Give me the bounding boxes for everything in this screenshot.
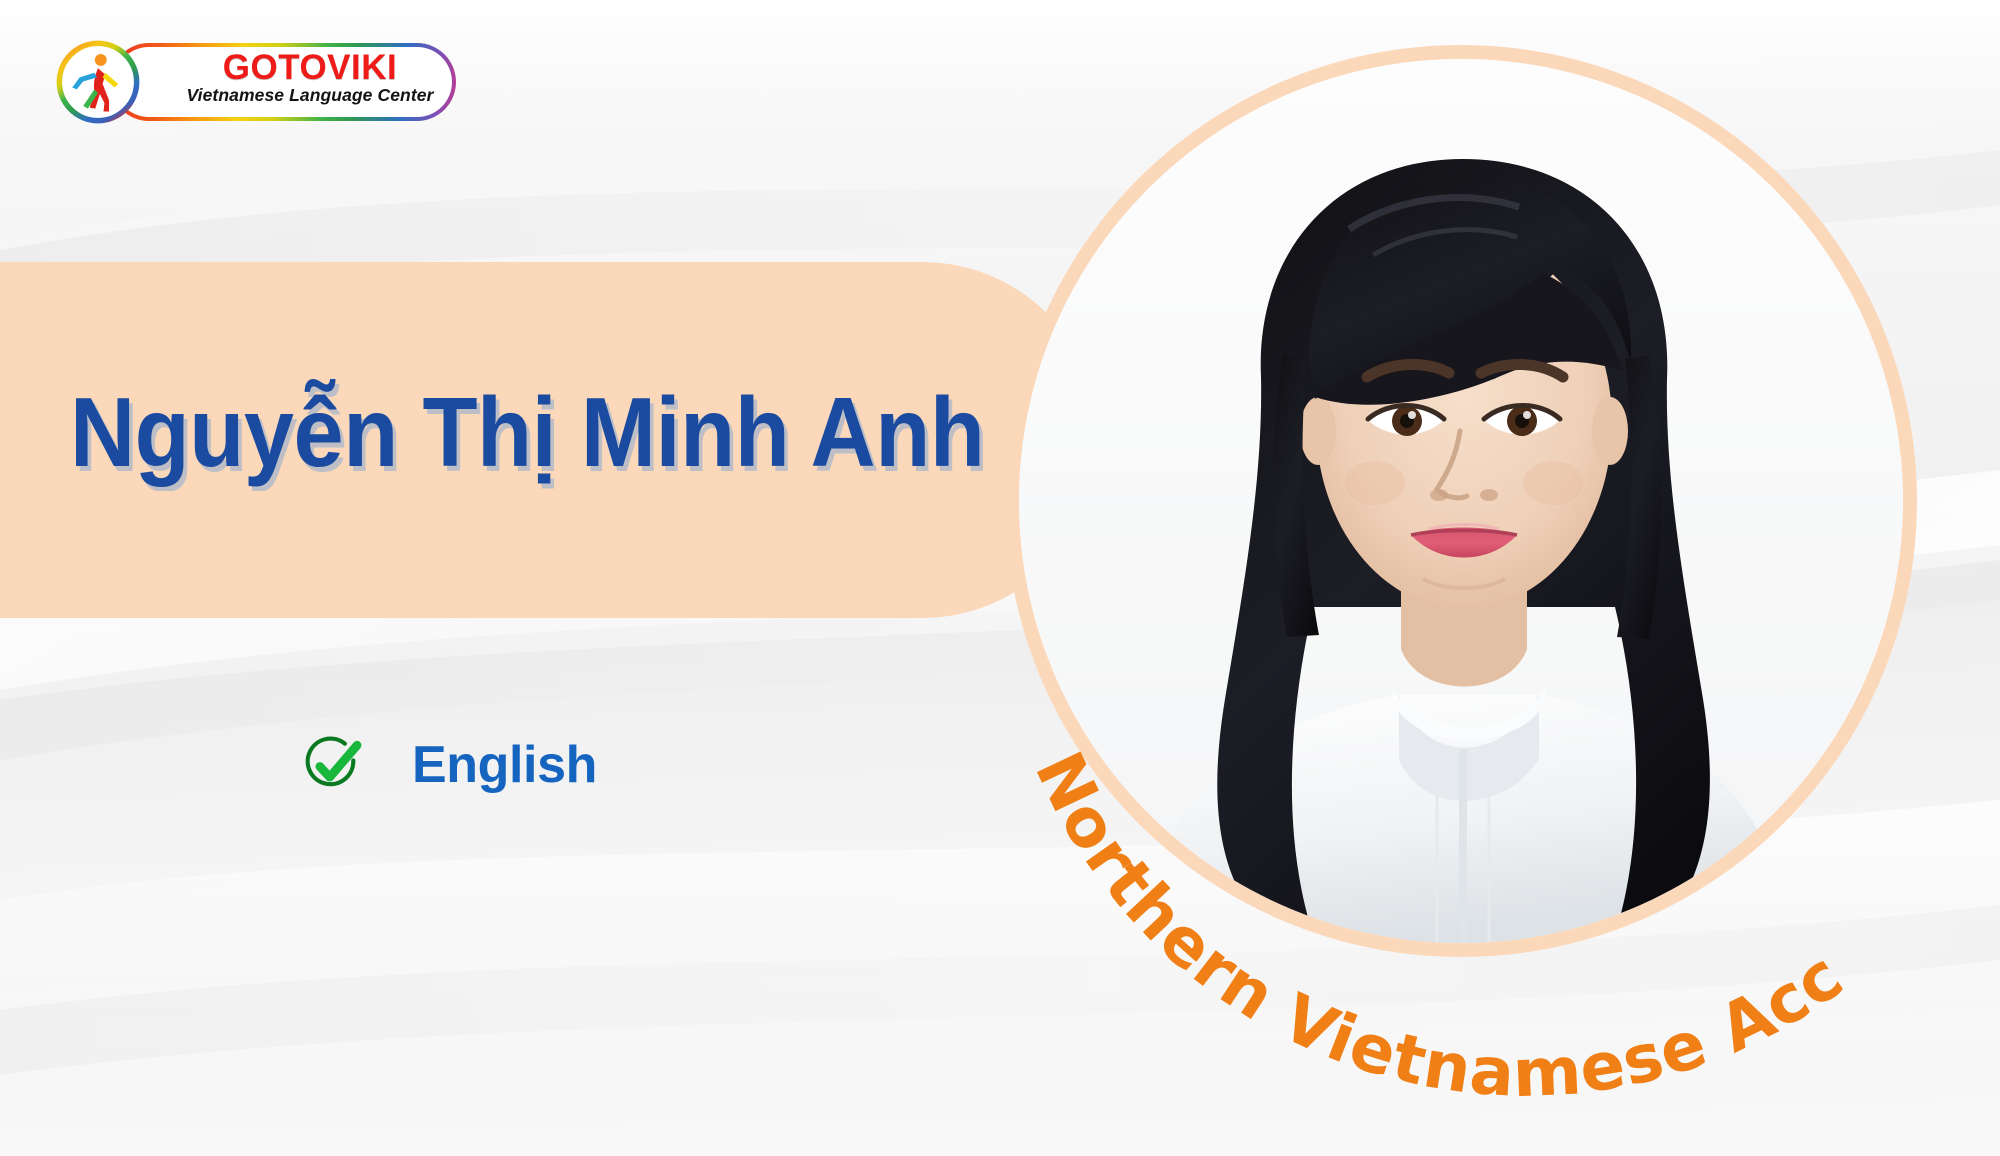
brand-logo[interactable]: GOTOVIKI Vietnamese Language Center bbox=[52, 36, 456, 128]
profile-card: GOTOVIKI Vietnamese Language Center bbox=[0, 0, 2000, 1156]
logo-title: GOTOVIKI bbox=[174, 50, 446, 85]
check-circle-icon bbox=[294, 727, 370, 803]
language-row: English bbox=[294, 727, 597, 803]
avatar bbox=[1019, 59, 1903, 943]
portrait-photo bbox=[1019, 59, 1903, 943]
page-title: Nguyễn Thị Minh Anh bbox=[70, 383, 1018, 481]
logo-subtitle: Vietnamese Language Center bbox=[174, 87, 446, 105]
language-label: English bbox=[412, 735, 597, 795]
logo-text-block: GOTOVIKI Vietnamese Language Center bbox=[174, 50, 446, 105]
walking-person-icon bbox=[52, 36, 144, 128]
portrait-ring bbox=[1005, 45, 1917, 957]
